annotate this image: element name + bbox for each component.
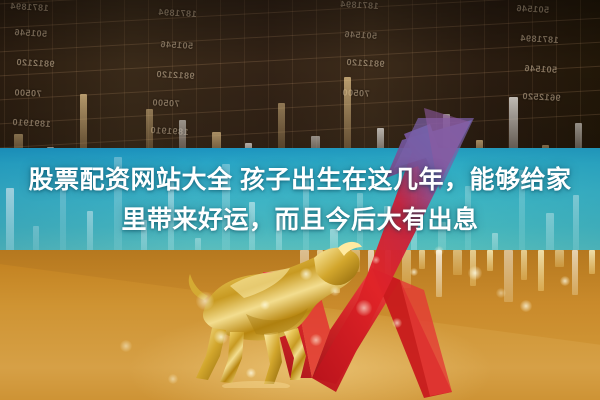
banner-canvas: 1871894501546981212070500189191018718945…	[0, 0, 600, 400]
golden-bull-icon	[186, 238, 366, 388]
headline-line-1: 股票配资网站大全 孩子出生在这几年，能够给家	[0, 160, 600, 200]
headline-line-2: 里带来好运，而且今后大有出息	[0, 200, 600, 240]
page-title: 股票配资网站大全 孩子出生在这几年，能够给家 里带来好运，而且今后大有出息	[0, 160, 600, 240]
